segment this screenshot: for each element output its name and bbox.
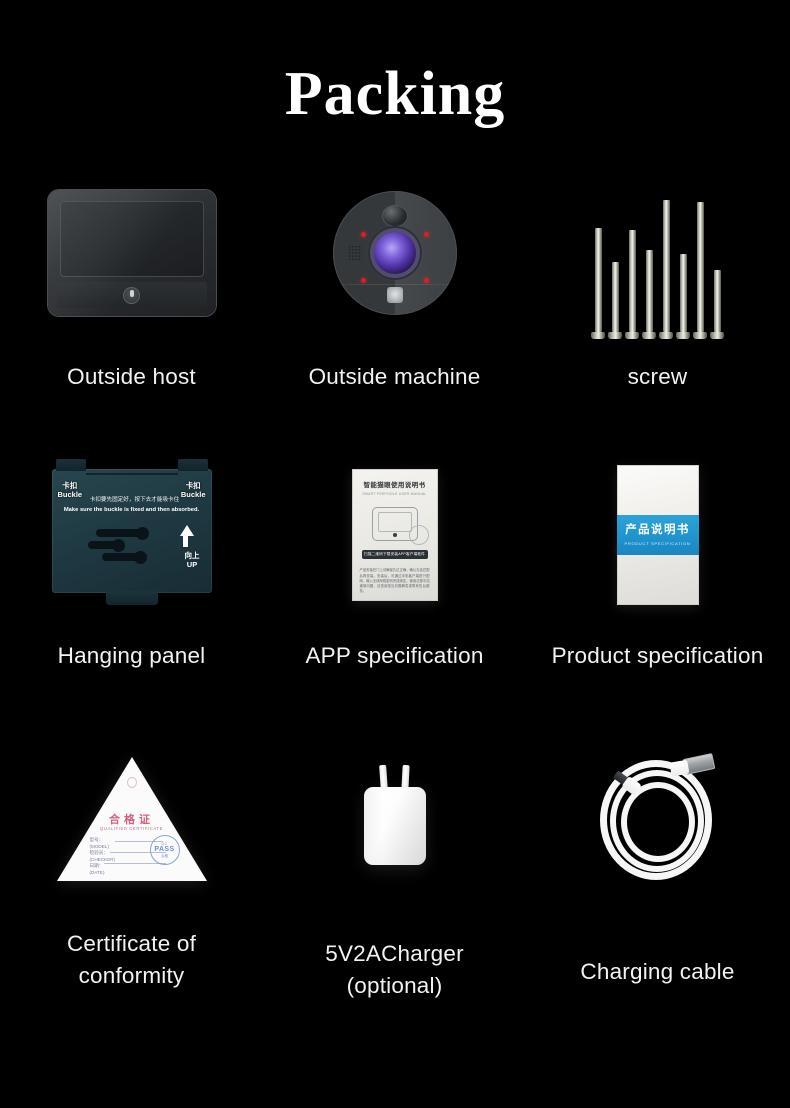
ir-led-icon	[424, 232, 429, 237]
booklet-highlight-bar: 扫描二维码下载安装APP客户端软件	[362, 550, 428, 559]
hanging-panel-art: 卡扣 Buckle 卡扣 Buckle 卡扣要先固定好，按下去才能吸卡住 Mak…	[0, 443, 263, 628]
keyhole-slot	[102, 553, 142, 561]
usb-power-adapter-icon	[330, 749, 460, 889]
caption-certificate-line2: conformity	[79, 963, 185, 988]
caption-certificate: Certificate of conformity	[0, 928, 263, 992]
caption-charger-line1: 5V2ACharger	[325, 941, 464, 966]
packing-item-charging-cable: Charging cable	[526, 727, 789, 1002]
bracket-tab-right	[178, 459, 208, 471]
mounting-bracket-icon: 卡扣 Buckle 卡扣 Buckle 卡扣要先固定好，按下去才能吸卡住 Mak…	[46, 455, 218, 615]
caption-outside-machine: Outside machine	[263, 361, 526, 393]
caption-charger-line2: (optional)	[347, 973, 443, 998]
speaker-grille-icon	[348, 245, 362, 261]
screw-icon	[713, 270, 722, 339]
monitor-screen	[60, 201, 204, 277]
bracket-tab-bottom	[106, 591, 158, 605]
screw-set-icon	[573, 167, 743, 339]
up-label: 向上 UP	[185, 551, 200, 569]
screw-icon	[645, 250, 654, 339]
stamp-cn-text: 合格	[161, 853, 168, 858]
caption-screw: screw	[526, 361, 789, 393]
charging-cable-art	[526, 727, 789, 912]
adapter-body	[364, 787, 426, 865]
booklet-title-cn: 智能猫眼使用说明书	[360, 479, 430, 489]
packing-item-outside-machine: Outside machine	[263, 160, 526, 393]
usb-a-connector-icon	[682, 753, 715, 775]
microphone-icon	[123, 287, 140, 304]
charger-art	[263, 727, 526, 912]
caption-product-specification: Product specification	[526, 640, 789, 672]
ir-led-icon	[361, 232, 366, 237]
page-title: Packing	[0, 62, 790, 127]
outside-host-art	[0, 160, 263, 345]
screw-icon	[662, 200, 671, 339]
packing-item-product-specification: 产品说明书 PRODUCT SPECIFICATION Product spec…	[526, 443, 789, 672]
indoor-monitor-icon	[48, 190, 216, 316]
keyhole-slot	[88, 541, 120, 549]
certificate-fields: 型号： (MODEL) 检验员： (CHECKER) 日期： (DATE)	[90, 837, 116, 876]
ir-led-icon	[424, 278, 429, 283]
booklet-body-text: 产品安装在门上请确保孔位正确，确认孔径匹配后再安装。安装后，可通过手机客户端进行…	[360, 568, 430, 594]
certificate-title-cn: 合格证	[57, 811, 207, 827]
bracket-note-cn: 卡扣要先固定好，按下去才能吸卡住	[76, 497, 194, 504]
stamp-main-text: PASS	[154, 846, 174, 853]
packing-item-certificate: 合格证 QUALIFIED CERTIFICATE 型号： (MODEL) 检验…	[0, 727, 263, 1002]
spec-band-title-en: PRODUCT SPECIFICATION	[625, 541, 691, 546]
screw-icon	[628, 230, 637, 339]
packing-item-app-specification: 智能猫眼使用说明书 SMART PEEPHOLE USER MANUAL 扫描二…	[263, 443, 526, 672]
packing-row-3: 合格证 QUALIFIED CERTIFICATE 型号： (MODEL) 检验…	[0, 727, 790, 1002]
body-seam	[339, 284, 451, 285]
spec-band-title-cn: 产品说明书	[625, 525, 690, 537]
qc-pass-stamp-icon: QC PASS 合格	[150, 835, 180, 865]
booklet-title-en: SMART PEEPHOLE USER MANUAL	[360, 492, 430, 496]
certificate-hole	[127, 777, 137, 788]
booklet-qr-ring	[409, 525, 429, 545]
bracket-tab-left	[56, 459, 86, 471]
booklet-figure-dot	[393, 533, 397, 537]
keyhole-slot	[96, 529, 144, 537]
screw-art	[526, 160, 789, 345]
bracket-plate: 卡扣 Buckle 卡扣 Buckle 卡扣要先固定好，按下去才能吸卡住 Mak…	[52, 469, 212, 593]
up-label-en: UP	[187, 560, 197, 569]
caption-charger: 5V2ACharger (optional)	[263, 938, 526, 1002]
bracket-ridge	[86, 473, 178, 475]
caption-certificate-line1: Certificate of	[67, 931, 196, 956]
field-date-en: (DATE)	[90, 870, 116, 877]
up-label-cn: 向上	[185, 551, 200, 560]
packing-item-screw: screw	[526, 160, 789, 393]
usb-cable-icon	[578, 744, 738, 894]
packing-row-2: 卡扣 Buckle 卡扣 Buckle 卡扣要先固定好，按下去才能吸卡住 Mak…	[0, 443, 790, 672]
round-doorbell-camera-icon	[333, 191, 457, 315]
caption-outside-host: Outside host	[0, 361, 263, 393]
certificate-write-line	[104, 863, 166, 864]
spec-booklet-band: 产品说明书 PRODUCT SPECIFICATION	[617, 515, 699, 555]
app-specification-art: 智能猫眼使用说明书 SMART PEEPHOLE USER MANUAL 扫描二…	[263, 443, 526, 628]
manual-booklet-icon: 智能猫眼使用说明书 SMART PEEPHOLE USER MANUAL 扫描二…	[352, 469, 438, 601]
outside-machine-art	[263, 160, 526, 345]
packing-items-grid: Outside host Outside machine	[0, 160, 790, 1002]
caption-charging-cable: Charging cable	[526, 956, 789, 988]
certificate-triangle-icon: 合格证 QUALIFIED CERTIFICATE 型号： (MODEL) 检验…	[57, 753, 207, 885]
packing-row-1: Outside host Outside machine	[0, 160, 790, 393]
spec-booklet-icon: 产品说明书 PRODUCT SPECIFICATION	[617, 465, 699, 605]
packing-item-charger: 5V2ACharger (optional)	[263, 727, 526, 1002]
caption-app-specification: APP specification	[263, 640, 526, 672]
packing-item-hanging-panel: 卡扣 Buckle 卡扣 Buckle 卡扣要先固定好，按下去才能吸卡住 Mak…	[0, 443, 263, 672]
doorbell-button-icon	[387, 287, 403, 303]
certificate-art: 合格证 QUALIFIED CERTIFICATE 型号： (MODEL) 检验…	[0, 727, 263, 912]
certificate-title-en: QUALIFIED CERTIFICATE	[57, 826, 207, 831]
certificate-content: 合格证 QUALIFIED CERTIFICATE 型号： (MODEL) 检验…	[57, 757, 207, 885]
bracket-note-en: Make sure the buckle is fixed and then a…	[62, 507, 202, 513]
camera-lens-icon	[374, 232, 416, 274]
screw-icon	[696, 202, 705, 339]
caption-hanging-panel: Hanging panel	[0, 640, 263, 672]
product-specification-art: 产品说明书 PRODUCT SPECIFICATION	[526, 443, 789, 628]
pir-sensor-icon	[382, 205, 408, 227]
up-arrow-stem	[183, 535, 188, 547]
ir-led-icon	[361, 278, 366, 283]
screw-icon	[679, 254, 688, 339]
packing-item-outside-host: Outside host	[0, 160, 263, 393]
screw-icon	[611, 262, 620, 339]
screw-icon	[594, 228, 603, 339]
